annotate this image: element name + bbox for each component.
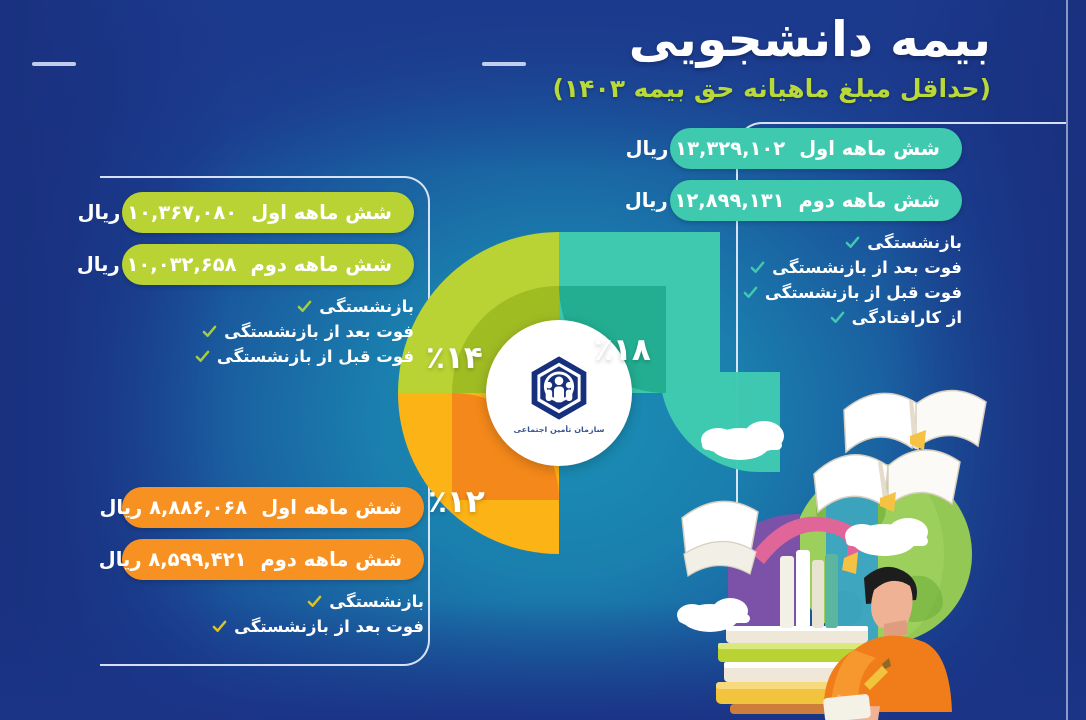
title-dash-right — [32, 62, 76, 66]
page-subtitle: (حداقل مبلغ ماهیانه حق بیمه ۱۴۰۳) — [552, 74, 991, 103]
check-icon — [307, 594, 322, 609]
list-item-label: بازنشستگی — [329, 592, 424, 611]
list-item: از کارافتادگی — [830, 308, 962, 327]
group-green-14: شش ماهه اول ۱۰,۳۶۷,۰۸۰ ریال شش ماهه دوم … — [122, 192, 414, 372]
page-title: بیمه دانشجویی — [552, 14, 991, 67]
green-row-second-half[interactable]: شش ماهه دوم ۱۰,۰۳۲,۶۵۸ ریال — [122, 244, 414, 285]
infographic-canvas: بیمه دانشجویی (حداقل مبلغ ماهیانه حق بیم… — [0, 0, 1086, 720]
orange-row-first-half-label: شش ماهه اول — [261, 496, 402, 519]
list-item: فوت قبل از بازنشستگی — [195, 347, 414, 366]
list-item-label: فوت بعد از بازنشستگی — [234, 617, 424, 636]
list-item-label: فوت قبل از بازنشستگی — [765, 283, 962, 302]
green-benefits-list: بازنشستگی فوت بعد از بازنشستگی فوت قبل ا… — [122, 297, 414, 372]
check-icon — [743, 285, 758, 300]
teal-row-second-half-label: شش ماهه دوم — [799, 189, 940, 212]
orange-row-second-half-amount: ۸,۵۹۹,۴۲۱ ریال — [99, 548, 247, 571]
check-icon — [830, 310, 845, 325]
list-item-label: بازنشستگی — [319, 297, 414, 316]
orange-row-second-half-label: شش ماهه دوم — [261, 548, 402, 571]
logo-caption: سازمان تأمین اجتماعی — [514, 425, 605, 433]
list-item: بازنشستگی — [307, 592, 424, 611]
list-item: بازنشستگی — [845, 233, 962, 252]
teal-row-second-half[interactable]: شش ماهه دوم ۱۲,۸۹۹,۱۳۱ ریال — [670, 180, 962, 221]
list-item: فوت بعد از بازنشستگی — [750, 258, 962, 277]
title-block: بیمه دانشجویی (حداقل مبلغ ماهیانه حق بیم… — [552, 14, 991, 103]
list-item-label: فوت قبل از بازنشستگی — [217, 347, 414, 366]
check-icon — [195, 349, 210, 364]
list-item-label: فوت بعد از بازنشستگی — [224, 322, 414, 341]
list-item: فوت بعد از بازنشستگی — [202, 322, 414, 341]
check-icon — [750, 260, 765, 275]
right-edge-rule — [1066, 0, 1068, 720]
check-icon — [845, 235, 860, 250]
pie-label-18: ٪۱۸ — [594, 332, 651, 368]
list-item-label: بازنشستگی — [867, 233, 962, 252]
title-dash-left — [482, 62, 526, 66]
green-row-second-half-label: شش ماهه دوم — [251, 253, 392, 276]
green-row-first-half-amount: ۱۰,۳۶۷,۰۸۰ ریال — [78, 201, 238, 224]
group-orange-12: شش ماهه اول ۸,۸۸۶,۰۶۸ ریال شش ماهه دوم ۸… — [122, 487, 424, 642]
teal-row-first-half-amount: ۱۳,۳۲۹,۱۰۲ ریال — [626, 137, 786, 160]
social-security-emblem-icon — [523, 352, 595, 424]
green-row-first-half[interactable]: شش ماهه اول ۱۰,۳۶۷,۰۸۰ ریال — [122, 192, 414, 233]
teal-benefits-list: بازنشستگی فوت بعد از بازنشستگی فوت قبل ا… — [670, 233, 962, 333]
orange-row-first-half[interactable]: شش ماهه اول ۸,۸۸۶,۰۶۸ ریال — [122, 487, 424, 528]
orange-row-second-half[interactable]: شش ماهه دوم ۸,۵۹۹,۴۲۱ ریال — [122, 539, 424, 580]
list-item: فوت قبل از بازنشستگی — [743, 283, 962, 302]
list-item: فوت بعد از بازنشستگی — [212, 617, 424, 636]
list-item: بازنشستگی — [297, 297, 414, 316]
check-icon — [212, 619, 227, 634]
list-item-label: فوت بعد از بازنشستگی — [772, 258, 962, 277]
check-icon — [297, 299, 312, 314]
green-row-first-half-label: شش ماهه اول — [251, 201, 392, 224]
check-icon — [202, 324, 217, 339]
pie-label-12: ٪۱۲ — [428, 484, 485, 520]
teal-row-first-half-label: شش ماهه اول — [799, 137, 940, 160]
group-teal-18: شش ماهه اول ۱۳,۳۲۹,۱۰۲ ریال شش ماهه دوم … — [670, 128, 962, 333]
teal-row-second-half-amount: ۱۲,۸۹۹,۱۳۱ ریال — [625, 189, 785, 212]
orange-row-first-half-amount: ۸,۸۸۶,۰۶۸ ریال — [99, 496, 247, 519]
orange-benefits-list: بازنشستگی فوت بعد از بازنشستگی — [122, 592, 424, 642]
student-illustration — [668, 378, 1008, 720]
teal-row-first-half[interactable]: شش ماهه اول ۱۳,۳۲۹,۱۰۲ ریال — [670, 128, 962, 169]
green-row-second-half-amount: ۱۰,۰۳۲,۶۵۸ ریال — [77, 253, 237, 276]
list-item-label: از کارافتادگی — [852, 308, 962, 327]
pie-label-14: ٪۱۴ — [426, 340, 483, 376]
